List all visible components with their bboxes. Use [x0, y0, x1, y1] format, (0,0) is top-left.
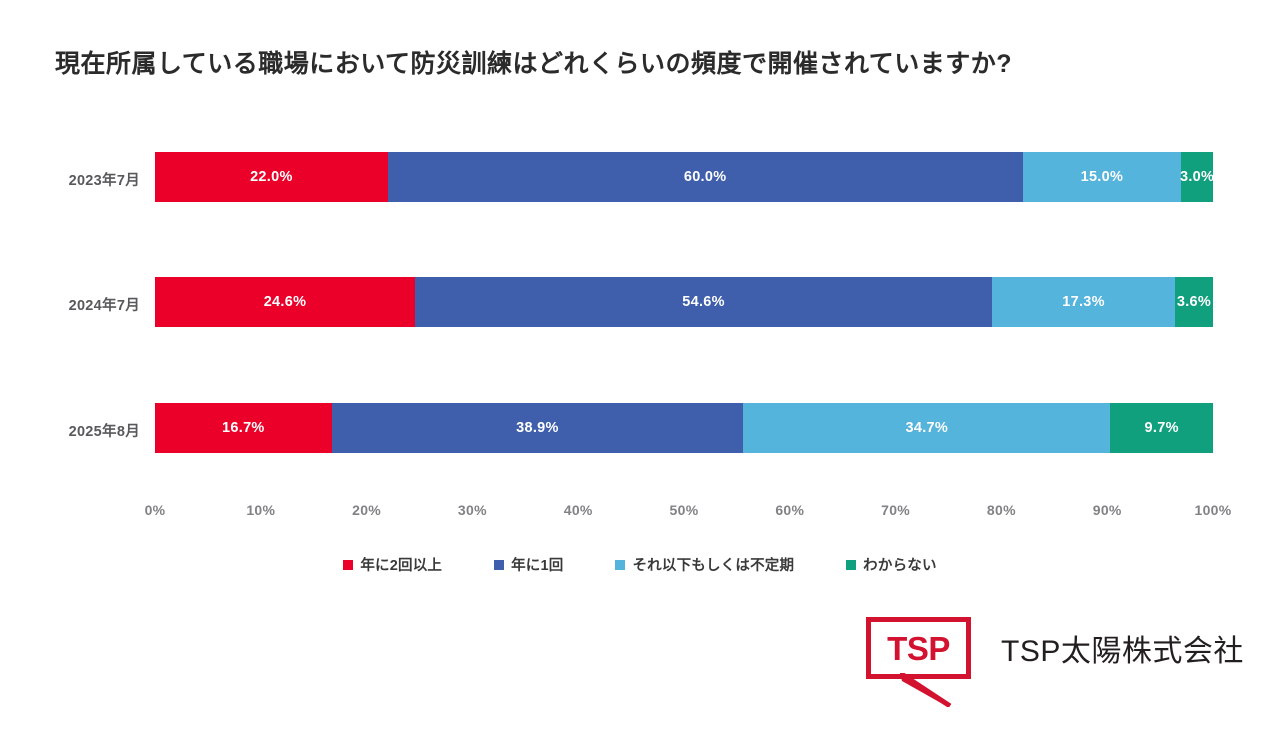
bar-segment-2024-less-or-irregular[interactable]: 17.3%: [992, 277, 1175, 327]
stacked-bar-2025: 16.7% 38.9% 34.7% 9.7%: [155, 403, 1213, 453]
bar-value-label: 22.0%: [250, 169, 293, 185]
bar-value-label: 54.6%: [682, 294, 725, 310]
legend-item-2[interactable]: それ以下もしくは不定期: [615, 554, 794, 575]
bar-value-label: 60.0%: [684, 169, 727, 185]
x-axis: 0%10%20%30%40%50%60%70%80%90%100%: [155, 502, 1213, 522]
legend-swatch-icon: [846, 560, 856, 570]
bar-segment-2025-twice-or-more[interactable]: 16.7%: [155, 403, 332, 453]
legend-label: わからない: [863, 554, 937, 575]
legend-label: 年に1回: [511, 554, 563, 575]
x-axis-tick-label: 50%: [670, 502, 699, 518]
legend-label: 年に2回以上: [360, 554, 442, 575]
bar-segment-2025-less-or-irregular[interactable]: 34.7%: [743, 403, 1110, 453]
bar-segment-2024-unknown[interactable]: 3.6%: [1175, 277, 1213, 327]
x-axis-tick-label: 90%: [1093, 502, 1122, 518]
x-axis-tick-label: 40%: [564, 502, 593, 518]
tsp-logo-box: TSP: [866, 617, 971, 679]
company-name: TSP太陽株式会社: [1001, 626, 1244, 670]
legend-item-3[interactable]: わからない: [846, 554, 937, 575]
x-axis-tick-label: 70%: [881, 502, 910, 518]
bar-segment-2025-once[interactable]: 38.9%: [332, 403, 744, 453]
x-axis-tick-label: 80%: [987, 502, 1016, 518]
bar-value-label: 17.3%: [1062, 294, 1105, 310]
legend-swatch-icon: [343, 560, 353, 570]
tsp-logo-mark: TSP: [866, 617, 971, 679]
bar-segment-2023-once[interactable]: 60.0%: [388, 152, 1023, 202]
bar-segment-2023-less-or-irregular[interactable]: 15.0%: [1023, 152, 1182, 202]
bar-value-label: 15.0%: [1081, 169, 1124, 185]
tsp-logo-text: TSP: [887, 632, 950, 665]
category-label-2025: 2025年8月: [0, 420, 140, 441]
bar-value-label: 16.7%: [222, 420, 265, 436]
category-label-2024: 2024年7月: [0, 294, 140, 315]
x-axis-tick-label: 100%: [1194, 502, 1231, 518]
chart-legend: 年に2回以上年に1回それ以下もしくは不定期わからない: [0, 554, 1280, 575]
legend-swatch-icon: [615, 560, 625, 570]
x-axis-tick-label: 20%: [352, 502, 381, 518]
stacked-bar-2023: 22.0% 60.0% 15.0% 3.0%: [155, 152, 1213, 202]
x-axis-tick-label: 60%: [775, 502, 804, 518]
legend-swatch-icon: [494, 560, 504, 570]
bar-segment-2023-unknown[interactable]: 3.0%: [1181, 152, 1213, 202]
bar-value-label: 24.6%: [264, 294, 307, 310]
bar-value-label: 38.9%: [516, 420, 559, 436]
bar-value-label: 34.7%: [905, 420, 948, 436]
bar-segment-2025-unknown[interactable]: 9.7%: [1110, 403, 1213, 453]
legend-item-1[interactable]: 年に1回: [494, 554, 563, 575]
bar-value-label: 3.0%: [1180, 169, 1214, 185]
bar-value-label: 3.6%: [1177, 294, 1211, 310]
x-axis-tick-label: 0%: [145, 502, 166, 518]
bar-segment-2023-twice-or-more[interactable]: 22.0%: [155, 152, 388, 202]
legend-label: それ以下もしくは不定期: [632, 554, 794, 575]
category-label-2023: 2023年7月: [0, 169, 140, 190]
bar-value-label: 9.7%: [1145, 420, 1179, 436]
footer-branding: TSP TSP太陽株式会社: [866, 617, 1244, 679]
bar-segment-2024-twice-or-more[interactable]: 24.6%: [155, 277, 415, 327]
x-axis-tick-label: 30%: [458, 502, 487, 518]
bar-segment-2024-once[interactable]: 54.6%: [415, 277, 992, 327]
x-axis-tick-label: 10%: [246, 502, 275, 518]
chart-page: 現在所属している職場において防災訓練はどれくらいの頻度で開催されていますか? 2…: [0, 0, 1280, 731]
legend-item-0[interactable]: 年に2回以上: [343, 554, 442, 575]
stacked-bar-2024: 24.6% 54.6% 17.3% 3.6%: [155, 277, 1213, 327]
